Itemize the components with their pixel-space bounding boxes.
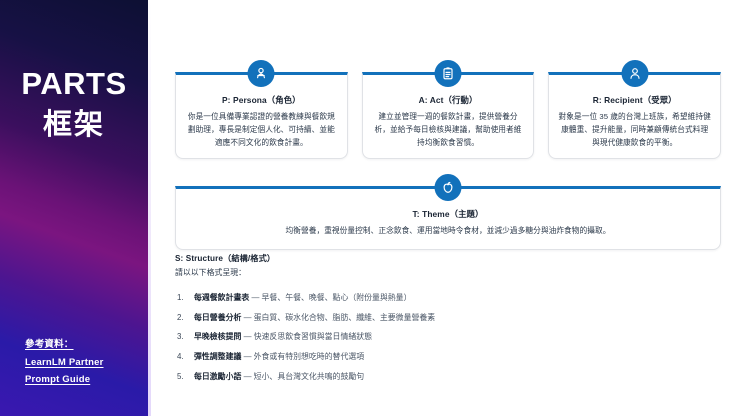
structure-section: S: Structure（結構/格式） 請以以下格式呈現： 1. 每週餐飲計畫表… [175,252,575,391]
list-item-detail: — 短小、具台灣文化共鳴的鼓勵句 [244,372,365,381]
list-item-number: 3. [177,331,184,343]
sidebar-panel: PARTS 框架 參考資料： LearnLM Partner Prompt Gu… [0,0,148,416]
slide-canvas: PARTS 框架 參考資料： LearnLM Partner Prompt Gu… [0,0,740,416]
clipboard-icon [435,60,462,87]
card-persona: P: Persona（角色） 你是一位具備專業認證的營養教練與餐飲規劃助理，專長… [175,72,348,159]
card-recipient: R: Recipient（受眾） 對象是一位 35 歲的台灣上班族，希望維持健康… [548,72,721,159]
content-area: P: Persona（角色） 你是一位具備專業認證的營養教練與餐飲規劃助理，專長… [151,0,740,416]
list-item: 1. 每週餐飲計畫表 — 早餐、午餐、晚餐、點心（附份量與熱量） [175,292,575,304]
card-theme: T: Theme（主題） 均衡營養，重視份量控制、正念飲食、運用當地時令食材，並… [175,186,721,250]
list-item-number: 1. [177,292,184,304]
card-title: A: Act（行動） [372,95,525,107]
list-item-number: 4. [177,351,184,363]
list-item-detail: — 蛋白質、碳水化合物、脂肪、纖維、主要微量營養素 [244,313,436,322]
page-title-zh: 框架 [0,110,148,140]
list-item-number: 5. [177,371,184,383]
card-body: 對象是一位 35 歲的台灣上班族，希望維持健康體重、提升能量，同時兼顧傳統台式料… [558,110,711,150]
list-item: 5. 每日激勵小語 — 短小、具台灣文化共鳴的鼓勵句 [175,371,575,383]
page-title: PARTS 框架 [0,68,148,140]
list-item-detail: — 早餐、午餐、晚餐、點心（附份量與熱量） [251,293,411,302]
structure-list: 1. 每週餐飲計畫表 — 早餐、午餐、晚餐、點心（附份量與熱量） 2. 每日營養… [175,292,575,383]
list-item-detail: — 外食或有特別想吃時的替代選項 [244,352,365,361]
apple-icon [435,174,462,201]
card-act: A: Act（行動） 建立並管理一週的餐飲計畫，提供營養分析，並給予每日檢核與建… [362,72,535,159]
user-outline-icon [621,60,648,87]
list-item-number: 2. [177,312,184,324]
card-title: R: Recipient（受眾） [558,95,711,107]
structure-heading: S: Structure（結構/格式） [175,252,575,265]
card-body: 均衡營養，重視份量控制、正念飲食、運用當地時令食材，並減少過多糖分與油炸食物的攝… [190,224,706,237]
reference-link-line-1[interactable]: LearnLM Partner [25,354,104,372]
theme-card-row: T: Theme（主題） 均衡營養，重視份量控制、正念飲食、運用當地時令食材，並… [175,186,721,250]
list-item-detail: — 快速反思飲食習慣與當日情緒狀態 [244,332,372,341]
list-item: 3. 早晚檢核提問 — 快速反思飲食習慣與當日情緒狀態 [175,331,575,343]
card-title: P: Persona（角色） [185,95,338,107]
list-item: 2. 每日營養分析 — 蛋白質、碳水化合物、脂肪、纖維、主要微量營養素 [175,312,575,324]
card-title: T: Theme（主題） [190,209,706,221]
person-icon [248,60,275,87]
list-item-term: 每日激勵小語 [194,372,241,381]
reference-block: 參考資料： LearnLM Partner Prompt Guide [25,336,137,389]
reference-label: 參考資料： [25,336,74,354]
list-item-term: 早晚檢核提問 [194,332,241,341]
list-item-term: 每日營養分析 [194,313,241,322]
list-item: 4. 彈性調整建議 — 外食或有特別想吃時的替代選項 [175,351,575,363]
reference-link-line-2[interactable]: Prompt Guide [25,371,90,389]
card-body: 你是一位具備專業認證的營養教練與餐飲規劃助理，專長是制定個人化、可持續、並能適應… [185,110,338,150]
card-body: 建立並管理一週的餐飲計畫，提供營養分析，並給予每日檢核與建議，幫助使用者維持均衡… [372,110,525,150]
parts-card-row: P: Persona（角色） 你是一位具備專業認證的營養教練與餐飲規劃助理，專長… [175,72,721,159]
structure-subheading: 請以以下格式呈現： [175,267,575,280]
page-title-en: PARTS [0,68,148,101]
list-item-term: 每週餐飲計畫表 [194,293,249,302]
list-item-term: 彈性調整建議 [194,352,241,361]
